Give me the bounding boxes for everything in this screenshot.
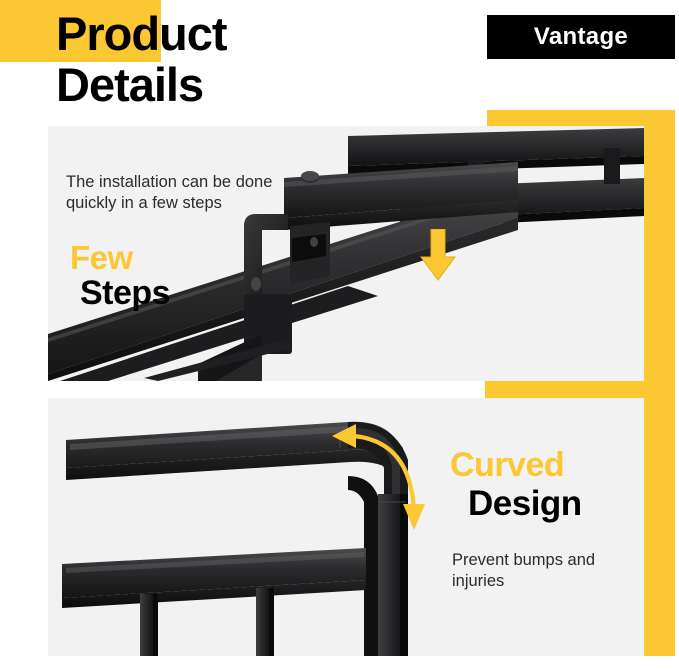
curved-caption: Prevent bumps and injuries	[452, 550, 644, 592]
few-steps-headline-dark: Steps	[80, 276, 170, 310]
few-steps-headline-accent: Few	[70, 241, 133, 274]
panel-curved-design: Curved Design Prevent bumps and injuries	[48, 398, 644, 656]
panel-few-steps: The installation can be done quickly in …	[48, 126, 644, 381]
few-steps-caption: The installation can be done quickly in …	[66, 172, 366, 214]
page-title: Product Details	[56, 8, 476, 110]
brand-name: Vantage	[534, 23, 628, 51]
frame-accent-right-lower	[644, 398, 675, 656]
product-photo-slat-bracket	[48, 126, 644, 381]
curved-headline-accent: Curved	[450, 448, 564, 482]
frame-accent-middle	[485, 381, 675, 398]
curved-headline-dark: Design	[468, 486, 582, 521]
curved-double-arrow-icon	[326, 418, 436, 541]
arrow-down-icon	[420, 229, 456, 286]
frame-accent-right-upper	[644, 110, 675, 382]
brand-badge: Vantage	[487, 15, 675, 59]
